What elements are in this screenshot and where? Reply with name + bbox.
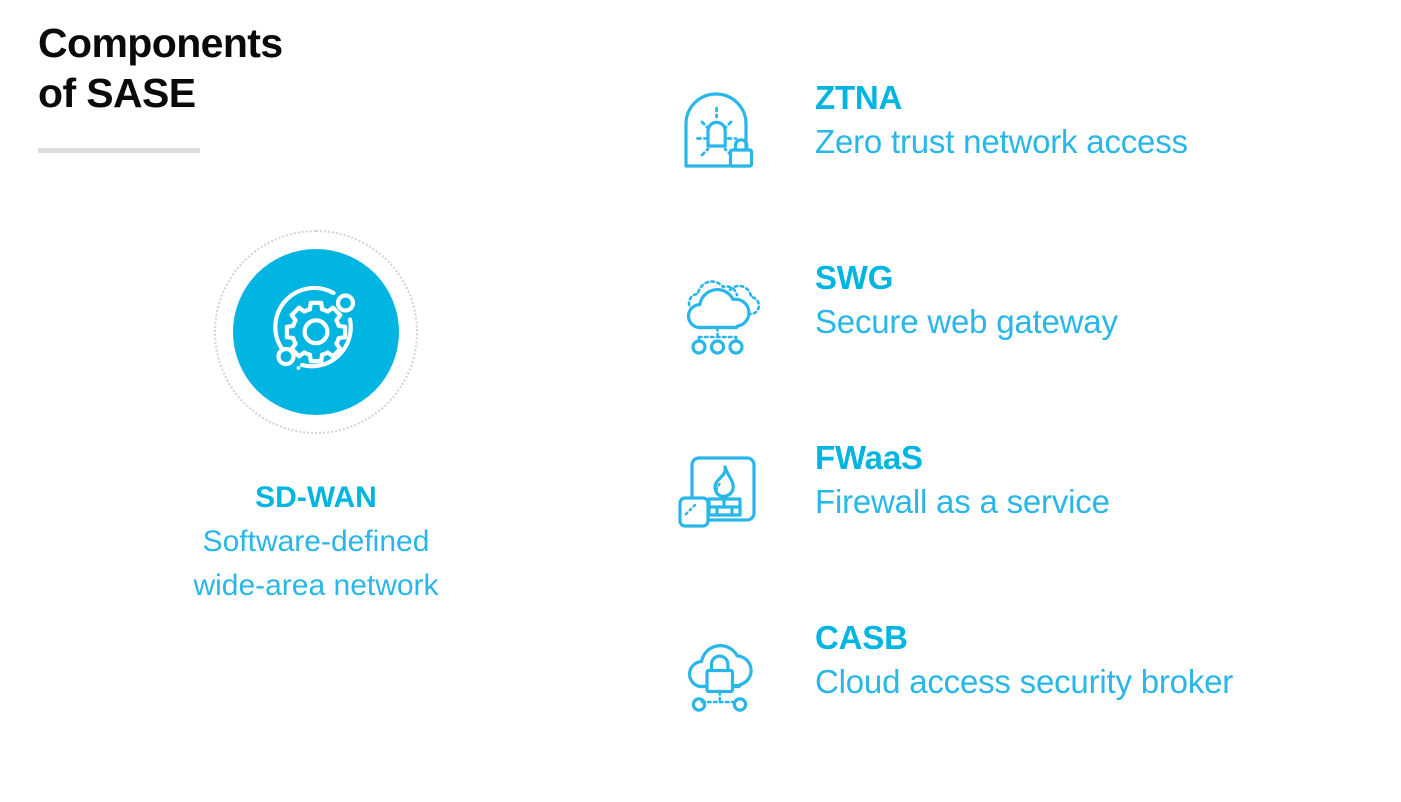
component-description-ztna: Zero trust network access (815, 120, 1188, 164)
sd-wan-caption: SD-WAN Software-defined wide-area networ… (86, 476, 546, 608)
component-description-fwaas: Firewall as a service (815, 480, 1110, 524)
firewall-flame-icon (665, 442, 775, 542)
component-description-casb: Cloud access security broker (815, 660, 1233, 704)
component-row-fwaas: FWaaS Firewall as a service (655, 442, 1385, 622)
sd-wan-description: Software-defined wide-area network (86, 520, 546, 609)
sd-wan-badge (214, 230, 418, 434)
component-abbr-swg: SWG (815, 256, 1118, 300)
title-block: Components of SASE (38, 18, 458, 153)
component-text-ztna: ZTNA Zero trust network access (815, 76, 1188, 164)
component-abbr-ztna: ZTNA (815, 76, 1188, 120)
component-text-fwaas: FWaaS Firewall as a service (815, 436, 1110, 524)
component-list: ZTNA Zero trust network access (655, 82, 1385, 802)
cloud-lock-icon (665, 622, 775, 722)
component-row-swg: SWG Secure web gateway (655, 262, 1385, 442)
component-abbr-fwaas: FWaaS (815, 436, 1110, 480)
component-description-swg: Secure web gateway (815, 300, 1118, 344)
component-row-ztna: ZTNA Zero trust network access (655, 82, 1385, 262)
component-text-casb: CASB Cloud access security broker (815, 616, 1233, 704)
component-text-swg: SWG Secure web gateway (815, 256, 1118, 344)
cloud-nodes-icon (665, 262, 775, 362)
featured-component-sd-wan: SD-WAN Software-defined wide-area networ… (86, 230, 546, 608)
gear-orbit-icon (262, 276, 370, 389)
arch-lock-icon (665, 82, 775, 182)
component-abbr-casb: CASB (815, 616, 1233, 660)
title-divider (38, 148, 200, 153)
page-title: Components of SASE (38, 18, 458, 118)
sd-wan-abbr: SD-WAN (86, 476, 546, 520)
component-row-casb: CASB Cloud access security broker (655, 622, 1385, 802)
